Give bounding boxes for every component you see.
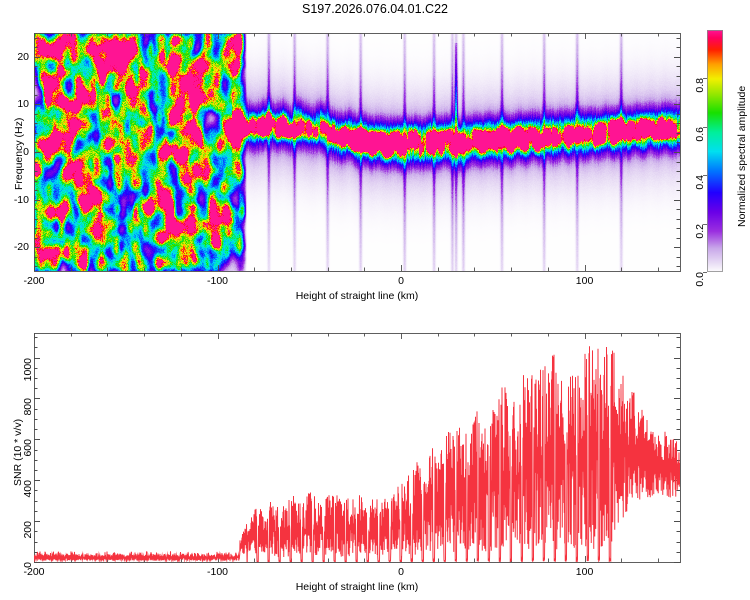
spectrogram-ytick-0: 0 <box>23 147 29 158</box>
spectrogram-x-axis-label: Height of straight line (km) <box>34 291 680 302</box>
spectrogram-ytick--20: -20 <box>14 242 29 253</box>
snr-xtick-100: 100 <box>576 567 594 578</box>
snr-xtick-0: 0 <box>398 567 404 578</box>
snr-ytick-200: 200 <box>23 521 34 539</box>
snr-ytick-600: 600 <box>23 439 34 457</box>
colorbar-tick-0.2: 0.2 <box>695 224 706 239</box>
spectrogram-xtick-100: 100 <box>576 276 594 287</box>
colorbar-tick-0.4: 0.4 <box>695 175 706 190</box>
figure-root: S197.2026.076.04.01.C22 Height of straig… <box>0 0 750 600</box>
snr-ytick-0: 0 <box>23 562 34 568</box>
spectrogram-xtick--100: -100 <box>207 276 228 287</box>
colorbar-tick-0.0: 0.0 <box>695 272 706 287</box>
snr-ytick-1000: 1000 <box>23 358 34 381</box>
spectrogram-ytick--10: -10 <box>14 195 29 206</box>
snr-x-axis-label: Height of straight line (km) <box>34 582 680 593</box>
snr-ytick-400: 400 <box>23 480 34 498</box>
figure-title: S197.2026.076.04.01.C22 <box>0 3 750 16</box>
colorbar-tick-0.8: 0.8 <box>695 78 706 93</box>
colorbar-label: Normalized spectral amplitude <box>737 86 748 227</box>
spectrogram-ytick-20: 20 <box>17 52 29 63</box>
spectrogram-ytick-10: 10 <box>17 99 29 110</box>
snr-ytick-800: 800 <box>23 398 34 416</box>
colorbar-tick-0.6: 0.6 <box>695 127 706 142</box>
snr-xtick--200: -200 <box>23 567 44 578</box>
snr-xtick--100: -100 <box>207 567 228 578</box>
spectrogram-xtick--200: -200 <box>23 276 44 287</box>
spectrogram-xtick-0: 0 <box>398 276 404 287</box>
